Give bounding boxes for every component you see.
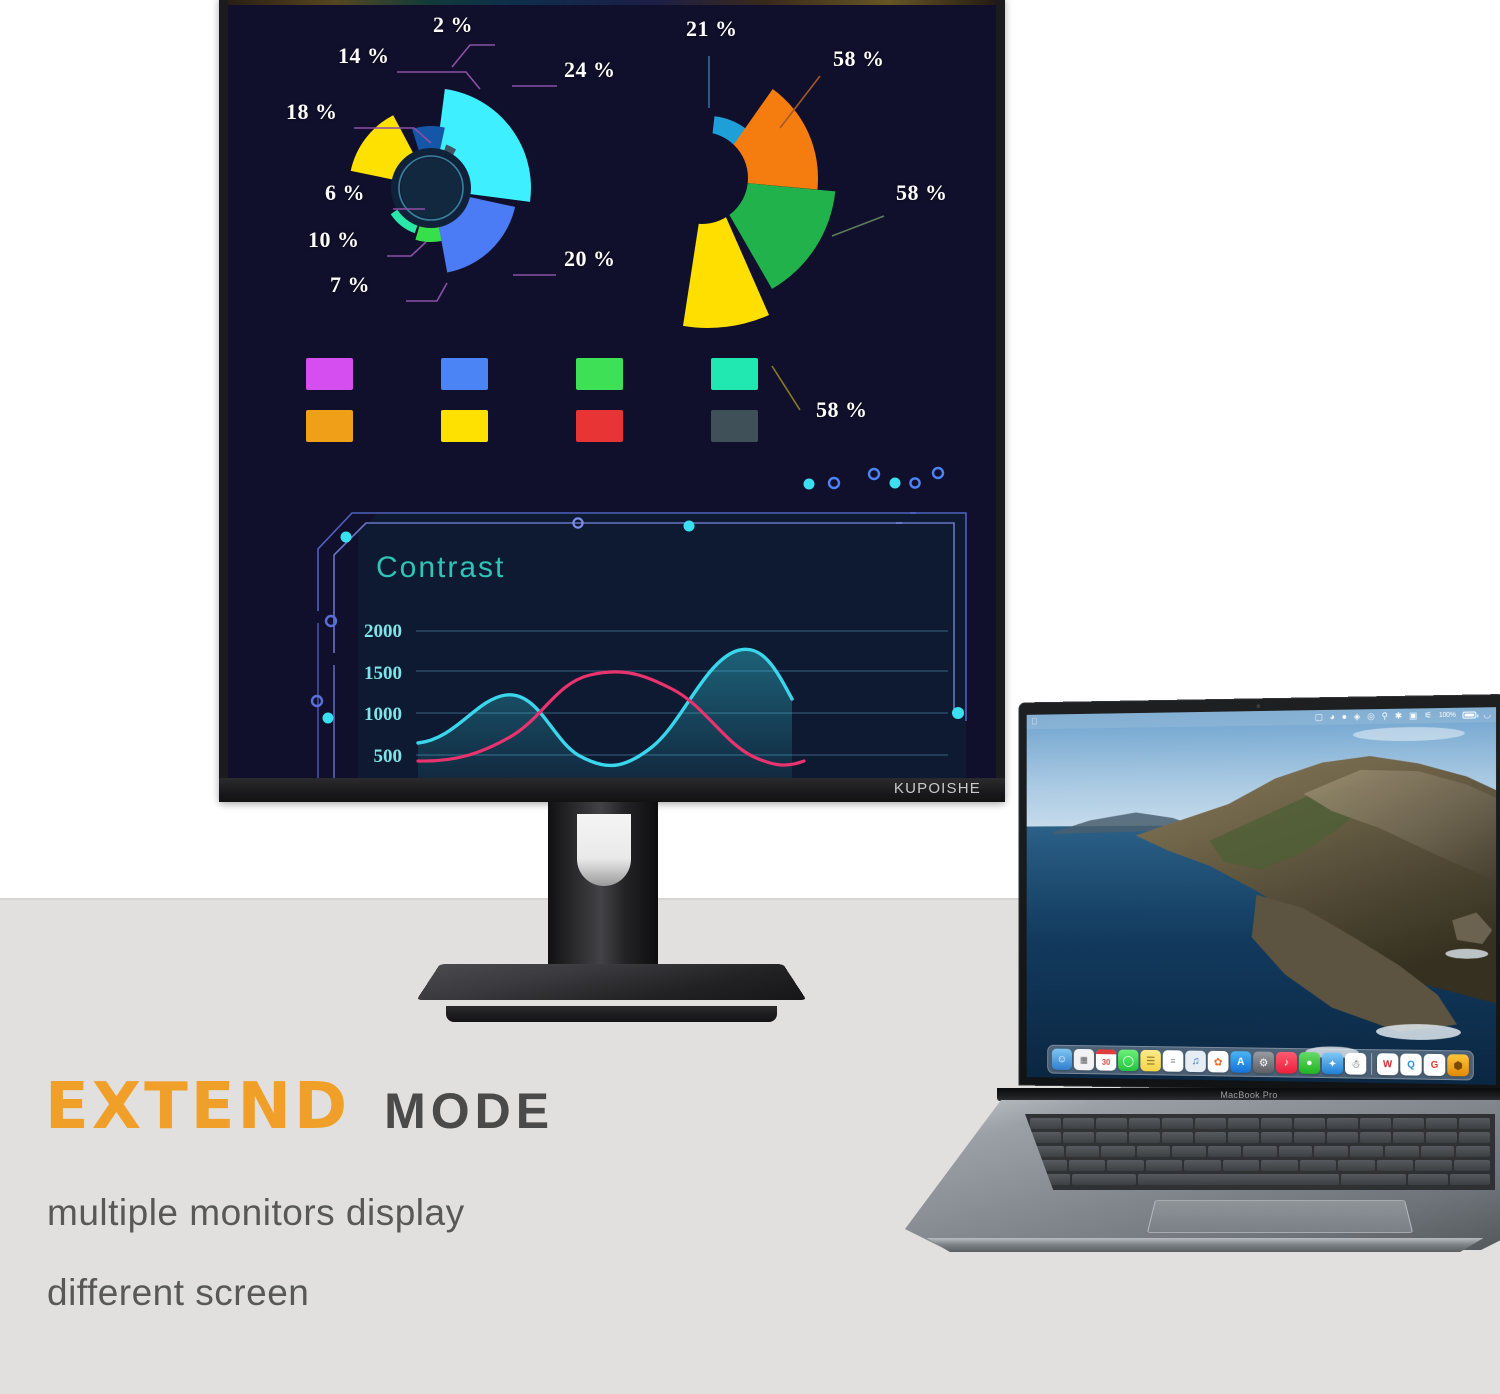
key[interactable] — [1459, 1132, 1490, 1143]
laptop-keyboard[interactable] — [1025, 1114, 1495, 1190]
key[interactable] — [1300, 1160, 1337, 1171]
legend-row-1 — [306, 358, 846, 390]
subheadline-line-1: multiple monitors display — [47, 1192, 465, 1234]
scissors-icon[interactable]: ✱ — [1395, 712, 1402, 721]
finder-icon[interactable]: ☺ — [1052, 1049, 1072, 1070]
keyboard-row — [1025, 1118, 1495, 1129]
pie-label-24: 24 % — [564, 57, 616, 83]
hex-app-icon[interactable]: ⬢ — [1447, 1054, 1469, 1076]
swatch-green — [576, 358, 623, 390]
legend-item-orange[interactable] — [306, 410, 441, 442]
qq-browser-icon[interactable]: Q — [1400, 1054, 1421, 1076]
key[interactable] — [1195, 1118, 1226, 1129]
screenshot-icon[interactable]: ◕ — [1330, 713, 1335, 722]
key[interactable] — [1327, 1118, 1358, 1129]
frame-node-ring-2 — [312, 696, 322, 706]
hud-dot-filled-1 — [804, 479, 815, 490]
key[interactable] — [1421, 1146, 1455, 1157]
wps-office-icon[interactable]: W — [1377, 1053, 1398, 1075]
monitor-screen: 2 % 14 % 18 % 6 % 10 % 7 % 24 % 20 % — [228, 0, 996, 778]
laptop-front-edge — [915, 1238, 1495, 1252]
key[interactable] — [1069, 1160, 1106, 1171]
reminders-icon[interactable]: ≡ — [1163, 1050, 1184, 1072]
key[interactable] — [1184, 1160, 1221, 1171]
clipboard-icon[interactable]: ◎ — [1367, 712, 1375, 721]
contrast-chart-title: Contrast — [376, 551, 505, 585]
key[interactable] — [1459, 1118, 1490, 1129]
key[interactable] — [1030, 1146, 1064, 1157]
key[interactable] — [1261, 1160, 1298, 1171]
hud-dots — [796, 460, 996, 500]
legend-item-blue[interactable] — [441, 358, 576, 390]
pie-label-2: 2 % — [433, 12, 473, 38]
macbook-pro:  ▢ ◕ ● ◈ ◎ ⚲ ✱ ▣ ⚟ 100% ◡ ☺ ▦ — [905, 694, 1500, 1264]
leader-10 — [387, 242, 426, 256]
legend-item-green[interactable] — [576, 358, 711, 390]
laptop-lid:  ▢ ◕ ● ◈ ◎ ⚲ ✱ ▣ ⚟ 100% ◡ ☺ ▦ — [1018, 694, 1500, 1094]
external-monitor: 2 % 14 % 18 % 6 % 10 % 7 % 24 % 20 % — [219, 0, 1005, 1036]
swatch-blue — [441, 358, 488, 390]
key[interactable] — [1030, 1132, 1061, 1143]
key[interactable] — [1426, 1132, 1457, 1143]
key[interactable] — [1072, 1174, 1136, 1185]
keyboard-row — [1025, 1132, 1495, 1143]
key[interactable] — [1327, 1132, 1358, 1143]
stand-base-surface — [416, 964, 806, 1000]
bluetooth-icon[interactable]: ⚟ — [1424, 711, 1432, 720]
dock-separator — [1371, 1053, 1372, 1075]
frame-node-cyan-1 — [341, 532, 352, 543]
qq-icon[interactable]: ☃ — [1345, 1053, 1366, 1075]
chart-legend — [306, 358, 846, 462]
pie-label-10: 10 % — [308, 227, 360, 253]
headline-secondary-word: MODE — [384, 1082, 554, 1140]
music-icon[interactable]: ♪ — [1276, 1052, 1297, 1074]
menu-bar-status-items: ▢ ◕ ● ◈ ◎ ⚲ ✱ ▣ ⚟ 100% ◡ — [1315, 710, 1491, 722]
key[interactable] — [1393, 1118, 1424, 1129]
rose-label-58-green: 58 % — [896, 180, 948, 206]
laptop-deck — [905, 1100, 1500, 1250]
subheadline-line-2: different screen — [47, 1272, 309, 1314]
stand-base-edge — [446, 1006, 777, 1022]
laptop-screen:  ▢ ◕ ● ◈ ◎ ⚲ ✱ ▣ ⚟ 100% ◡ ☺ ▦ — [1027, 707, 1496, 1085]
key[interactable] — [1228, 1118, 1259, 1129]
apple-icon[interactable]:  — [1031, 718, 1037, 727]
key[interactable] — [1096, 1118, 1127, 1129]
key[interactable] — [1393, 1132, 1424, 1143]
wechat-icon[interactable]: ◈ — [1354, 712, 1361, 721]
system-preferences-icon[interactable]: ⚙ — [1253, 1051, 1274, 1073]
key[interactable] — [1426, 1118, 1457, 1129]
leader-14 — [397, 72, 480, 89]
macbook-model-label: MacBook Pro — [997, 1088, 1500, 1101]
legend-row-2 — [306, 410, 846, 442]
key[interactable] — [1341, 1174, 1405, 1185]
key[interactable] — [1294, 1118, 1325, 1129]
golink-icon[interactable]: G — [1424, 1054, 1446, 1076]
key[interactable] — [1146, 1160, 1183, 1171]
legend-item-red[interactable] — [576, 410, 711, 442]
rose-label-21: 21 % — [686, 16, 738, 42]
hud-dot-outline-1 — [829, 478, 839, 488]
keyboard-row — [1025, 1174, 1495, 1185]
swatch-yellow — [441, 410, 488, 442]
notes-icon[interactable]: ☰ — [1140, 1050, 1160, 1072]
wps-icon[interactable]: ▢ — [1315, 713, 1323, 722]
key[interactable] — [1408, 1174, 1448, 1185]
key[interactable] — [1228, 1132, 1259, 1143]
rose-hub-hole — [656, 132, 748, 224]
key[interactable] — [1415, 1160, 1452, 1171]
headline-accent-word: EXTEND — [45, 1070, 350, 1144]
pie-label-20: 20 % — [564, 246, 616, 272]
keyboard-row — [1025, 1146, 1495, 1157]
pie-label-7: 7 % — [330, 272, 370, 298]
ytick-2000: 2000 — [340, 621, 402, 643]
ytick-500: 500 — [340, 746, 402, 768]
frame-node-cyan-3 — [684, 521, 695, 532]
dashboard-content: 2 % 14 % 18 % 6 % 10 % 7 % 24 % 20 % — [228, 0, 996, 778]
monitor-bezel: 2 % 14 % 18 % 6 % 10 % 7 % 24 % 20 % — [219, 0, 1005, 802]
calendar-icon[interactable]: 30 — [1096, 1049, 1116, 1071]
hud-dot-outline-4 — [933, 468, 943, 478]
search-icon[interactable]: ⚲ — [1382, 712, 1388, 721]
key[interactable] — [1385, 1146, 1419, 1157]
pie-label-18: 18 % — [286, 99, 338, 125]
key[interactable] — [1208, 1146, 1242, 1157]
hud-frame — [306, 503, 986, 778]
key[interactable] — [1195, 1132, 1226, 1143]
safari-icon[interactable]: ✦ — [1322, 1052, 1343, 1074]
battery-percent-label: 100% — [1439, 712, 1456, 719]
hud-dot-outline-3 — [910, 478, 919, 487]
wifi-icon[interactable]: ◡ — [1483, 710, 1491, 719]
key[interactable] — [1101, 1146, 1135, 1157]
spacebar-key[interactable] — [1138, 1174, 1339, 1185]
swatch-slate — [711, 410, 758, 442]
key[interactable] — [1261, 1118, 1292, 1129]
key[interactable] — [1223, 1160, 1260, 1171]
legend-item-yellow[interactable] — [441, 410, 576, 442]
key[interactable] — [1243, 1146, 1277, 1157]
key[interactable] — [1030, 1160, 1067, 1171]
keyboard-row — [1025, 1160, 1495, 1171]
key[interactable] — [1279, 1146, 1313, 1157]
laptop-base: MacBook Pro — [905, 1088, 1500, 1268]
battery-fill — [1465, 713, 1475, 716]
microphone-icon[interactable]: ● — [1342, 713, 1347, 722]
leader-7 — [406, 283, 447, 301]
leader-2 — [452, 45, 495, 67]
key[interactable] — [1162, 1132, 1193, 1143]
key[interactable] — [1360, 1118, 1391, 1129]
leader-58-green — [832, 216, 884, 236]
pie-label-6: 6 % — [325, 180, 365, 206]
key[interactable] — [1162, 1118, 1193, 1129]
frame-node-cyan-2 — [323, 713, 334, 724]
key[interactable] — [1129, 1118, 1160, 1129]
wechat-icon[interactable]: ● — [1299, 1052, 1320, 1074]
key[interactable] — [1338, 1160, 1375, 1171]
key[interactable] — [1063, 1132, 1094, 1143]
webcam-icon — [1256, 704, 1260, 708]
key[interactable] — [1450, 1174, 1490, 1185]
battery-icon[interactable] — [1463, 711, 1477, 718]
swatch-orange — [306, 410, 353, 442]
launchpad-icon[interactable]: ▦ — [1074, 1049, 1094, 1070]
contrast-panel: Contrast 2000 1500 1000 500 — [306, 503, 986, 778]
key[interactable] — [1030, 1118, 1061, 1129]
key[interactable] — [1377, 1160, 1414, 1171]
desktop-wallpaper — [1027, 707, 1496, 1082]
key[interactable] — [1456, 1146, 1490, 1157]
swatch-teal — [711, 358, 758, 390]
key[interactable] — [1107, 1160, 1144, 1171]
monitor-stand-base — [440, 964, 783, 1038]
key[interactable] — [1137, 1146, 1171, 1157]
key[interactable] — [1294, 1132, 1325, 1143]
hud-dot-filled-2 — [890, 478, 901, 489]
rose-label-58-orange: 58 % — [833, 46, 885, 72]
legend-item-slate[interactable] — [711, 410, 846, 442]
key[interactable] — [1314, 1146, 1348, 1157]
key[interactable] — [1172, 1146, 1206, 1157]
pie-label-14: 14 % — [338, 43, 390, 69]
key[interactable] — [1129, 1132, 1160, 1143]
key[interactable] — [1063, 1118, 1094, 1129]
ytick-1500: 1500 — [340, 663, 402, 685]
messages-icon[interactable]: ◯ — [1118, 1050, 1138, 1072]
app-store-icon[interactable]: A — [1230, 1051, 1251, 1073]
swatch-red — [576, 410, 623, 442]
key[interactable] — [1030, 1174, 1070, 1185]
legend-item-teal[interactable] — [711, 358, 846, 390]
laptop-trackpad[interactable] — [1147, 1200, 1413, 1233]
key[interactable] — [1350, 1146, 1384, 1157]
key[interactable] — [1360, 1132, 1391, 1143]
ytick-1000: 1000 — [340, 704, 402, 726]
legend-item-magenta[interactable] — [306, 358, 441, 390]
display-icon[interactable]: ▣ — [1409, 711, 1417, 720]
photos-icon[interactable]: ✿ — [1208, 1051, 1229, 1073]
garageband-icon[interactable]: ♫ — [1185, 1050, 1206, 1072]
headline: EXTEND MODE — [45, 1070, 554, 1144]
key[interactable] — [1261, 1132, 1292, 1143]
monitor-chin-bar — [219, 778, 1005, 802]
swatch-magenta — [306, 358, 353, 390]
key[interactable] — [1066, 1146, 1100, 1157]
key[interactable] — [1096, 1132, 1127, 1143]
hud-dot-outline-2 — [869, 469, 879, 479]
stand-cable-management-hole — [577, 814, 631, 886]
key[interactable] — [1454, 1160, 1491, 1171]
